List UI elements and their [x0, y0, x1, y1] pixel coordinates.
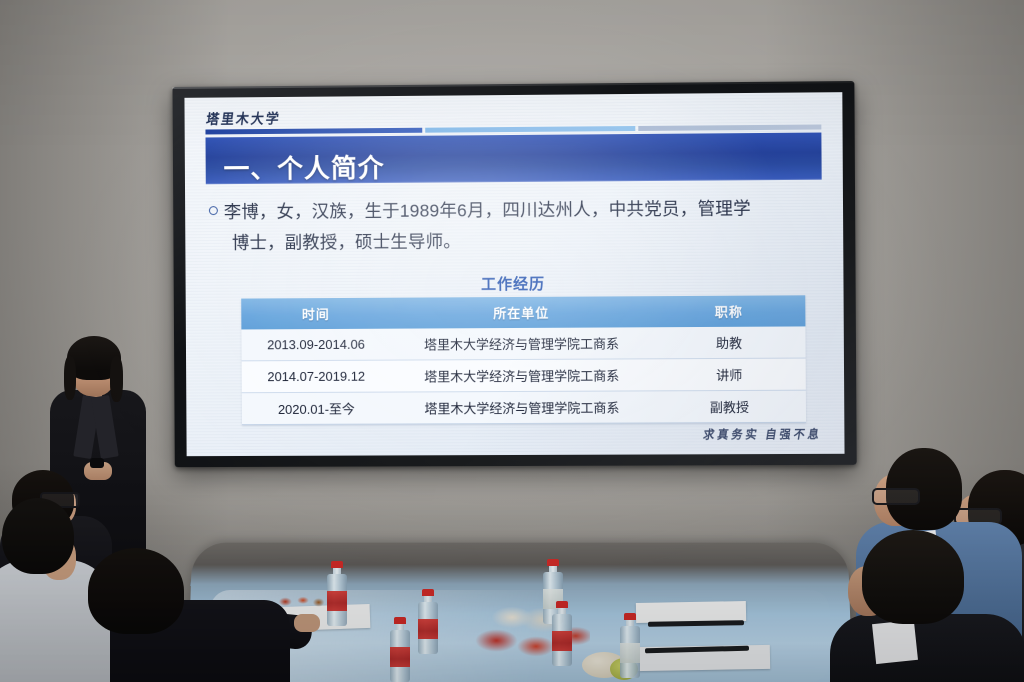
column-header-time: 时间	[241, 298, 390, 330]
university-logo: 塔里木大学	[205, 107, 282, 128]
university-motto: 求真务实 自强不息	[702, 425, 823, 443]
water-bottle	[418, 589, 438, 654]
cell-time: 2020.01-至今	[242, 392, 391, 425]
audience-collar	[872, 620, 918, 664]
presenter-clicker	[90, 458, 104, 468]
work-experience-table: 时间 所在单位 职称 2013.09-2014.06 塔里木大学经济与管理学院工…	[241, 295, 806, 425]
water-bottle	[552, 601, 572, 666]
cell-unit: 塔里木大学经济与管理学院工商系	[391, 359, 653, 392]
accent-segment-dark	[205, 128, 422, 135]
bio-line-1: 李博，女，汉族，生于1989年6月，四川达州人，中共党员，管理学	[224, 198, 751, 222]
bottle-body	[620, 626, 640, 678]
slide-title: 一、个人简介	[223, 155, 384, 182]
bullet-row: 李博，女，汉族，生于1989年6月，四川达州人，中共党员，管理学 博士，副教授，…	[209, 193, 813, 259]
bottle-cap	[422, 589, 434, 596]
bottle-body	[390, 630, 410, 682]
bio-paragraph: 李博，女，汉族，生于1989年6月，四川达州人，中共党员，管理学 博士，副教授，…	[224, 193, 751, 259]
presentation-slide: 塔里木大学 一、个人简介 李博，女，汉族，生于1989年6月，四川达州人，中共党…	[184, 92, 844, 456]
audience-hair	[2, 498, 74, 574]
audience-seated-left	[88, 548, 268, 682]
bio-line-2: 博士，副教授，硕士生导师。	[224, 224, 751, 258]
table-decoration	[276, 594, 328, 608]
cell-unit: 塔里木大学经济与管理学院工商系	[391, 327, 653, 360]
presenter-hair-side-left	[64, 356, 76, 400]
bottle-cap	[547, 559, 559, 566]
water-bottle	[620, 613, 640, 678]
cell-rank: 副教授	[653, 390, 806, 423]
bottle-body	[327, 574, 347, 626]
water-bottle	[327, 561, 347, 626]
accent-segment-muted	[638, 124, 821, 130]
bottle-body	[418, 602, 438, 654]
cell-time: 2013.09-2014.06	[241, 329, 390, 361]
table-row: 2014.07-2019.12 塔里木大学经济与管理学院工商系 讲师	[242, 358, 806, 393]
section-subtitle: 工作经历	[186, 271, 844, 296]
presenter-hair-side-right	[110, 356, 123, 402]
bottle-label	[552, 631, 572, 651]
bottle-label	[418, 619, 438, 639]
table-header-row: 时间 所在单位 职称	[241, 295, 805, 329]
projection-screen-bezel: 塔里木大学 一、个人简介 李博，女，汉族，生于1989年6月，四川达州人，中共党…	[173, 81, 857, 467]
snack-pile	[470, 600, 590, 658]
circle-bullet-icon	[209, 206, 218, 215]
bottle-cap	[556, 601, 568, 608]
eyeglasses-icon	[872, 488, 920, 505]
cell-rank: 助教	[653, 326, 806, 358]
bottle-label	[390, 647, 410, 667]
water-bottle	[390, 617, 410, 682]
bottle-label	[620, 643, 640, 663]
bottle-body	[552, 614, 572, 666]
audience-hand	[294, 614, 320, 632]
column-header-unit: 所在单位	[390, 296, 652, 328]
slide-body-block: 李博，女，汉族，生于1989年6月，四川达州人，中共党员，管理学 博士，副教授，…	[209, 193, 813, 259]
audience-seated-right	[848, 530, 1018, 682]
slide-title-banner: 一、个人简介	[206, 133, 822, 185]
audience-body	[830, 614, 1024, 682]
cell-time: 2014.07-2019.12	[242, 360, 391, 393]
column-header-rank: 职称	[652, 295, 805, 327]
cell-unit: 塔里木大学经济与管理学院工商系	[391, 391, 653, 424]
cell-rank: 讲师	[653, 358, 806, 391]
table-row: 2020.01-至今 塔里木大学经济与管理学院工商系 副教授	[242, 390, 806, 424]
bottle-cap	[394, 617, 406, 624]
table-row: 2013.09-2014.06 塔里木大学经济与管理学院工商系 助教	[241, 326, 805, 360]
bottle-cap	[624, 613, 636, 620]
photo-scene: 塔里木大学 一、个人简介 李博，女，汉族，生于1989年6月，四川达州人，中共党…	[0, 0, 1024, 682]
bottle-cap	[331, 561, 343, 568]
accent-segment-light	[425, 126, 635, 133]
audience-hair	[862, 530, 964, 624]
audience-hair	[88, 548, 184, 634]
bottle-label	[327, 591, 347, 611]
